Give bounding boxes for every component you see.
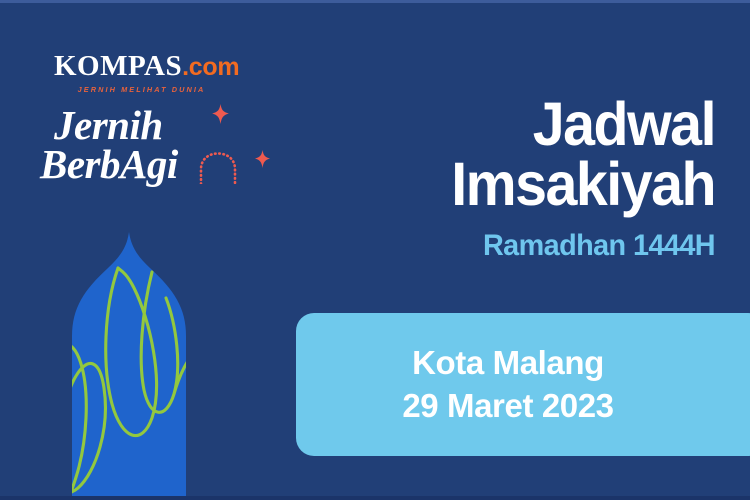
city-label: Kota Malang (412, 342, 604, 384)
kompas-tagline: JERNIH MELIHAT DUNIA (54, 85, 229, 94)
sparkle-star-icon (212, 104, 229, 124)
jernih-berbagi-line-1: Jernih (40, 106, 275, 144)
berbagi-prefix: Berb (40, 141, 120, 187)
kompas-logo: KOMPAS.com JERNIH MELIHAT DUNIA (54, 52, 274, 98)
dotted-arch-icon (199, 152, 237, 184)
headline-subtitle-ramadhan: Ramadhan 1444H (302, 229, 715, 263)
kompas-domain-text: .com (182, 53, 239, 81)
mosque-dome-shape (34, 232, 224, 496)
berbagi-suffix: gi (147, 141, 178, 187)
bottom-accent-strip (0, 496, 750, 500)
headline-line-imsakiyah: Imsakiyah (311, 155, 715, 215)
headline-line-jadwal: Jadwal (311, 95, 715, 155)
imsakiyah-schedule-banner: KOMPAS.com JERNIH MELIHAT DUNIA Jernih B… (0, 0, 750, 500)
headline-block: Jadwal Imsakiyah Ramadhan 1444H (285, 95, 715, 263)
jernih-berbagi-logo: Jernih BerbAgi (40, 106, 275, 190)
berbagi-accent-letter: A (120, 145, 147, 183)
kompas-wordmark: KOMPAS.com (54, 52, 274, 81)
date-label: 29 Maret 2023 (402, 385, 613, 427)
sparkle-star-icon-secondary (255, 150, 270, 168)
kompas-wordmark-text: KOMPAS (54, 50, 182, 82)
jernih-berbagi-line-2: BerbAgi (40, 145, 275, 183)
top-accent-strip (0, 0, 750, 3)
location-date-card: Kota Malang 29 Maret 2023 (296, 313, 750, 456)
